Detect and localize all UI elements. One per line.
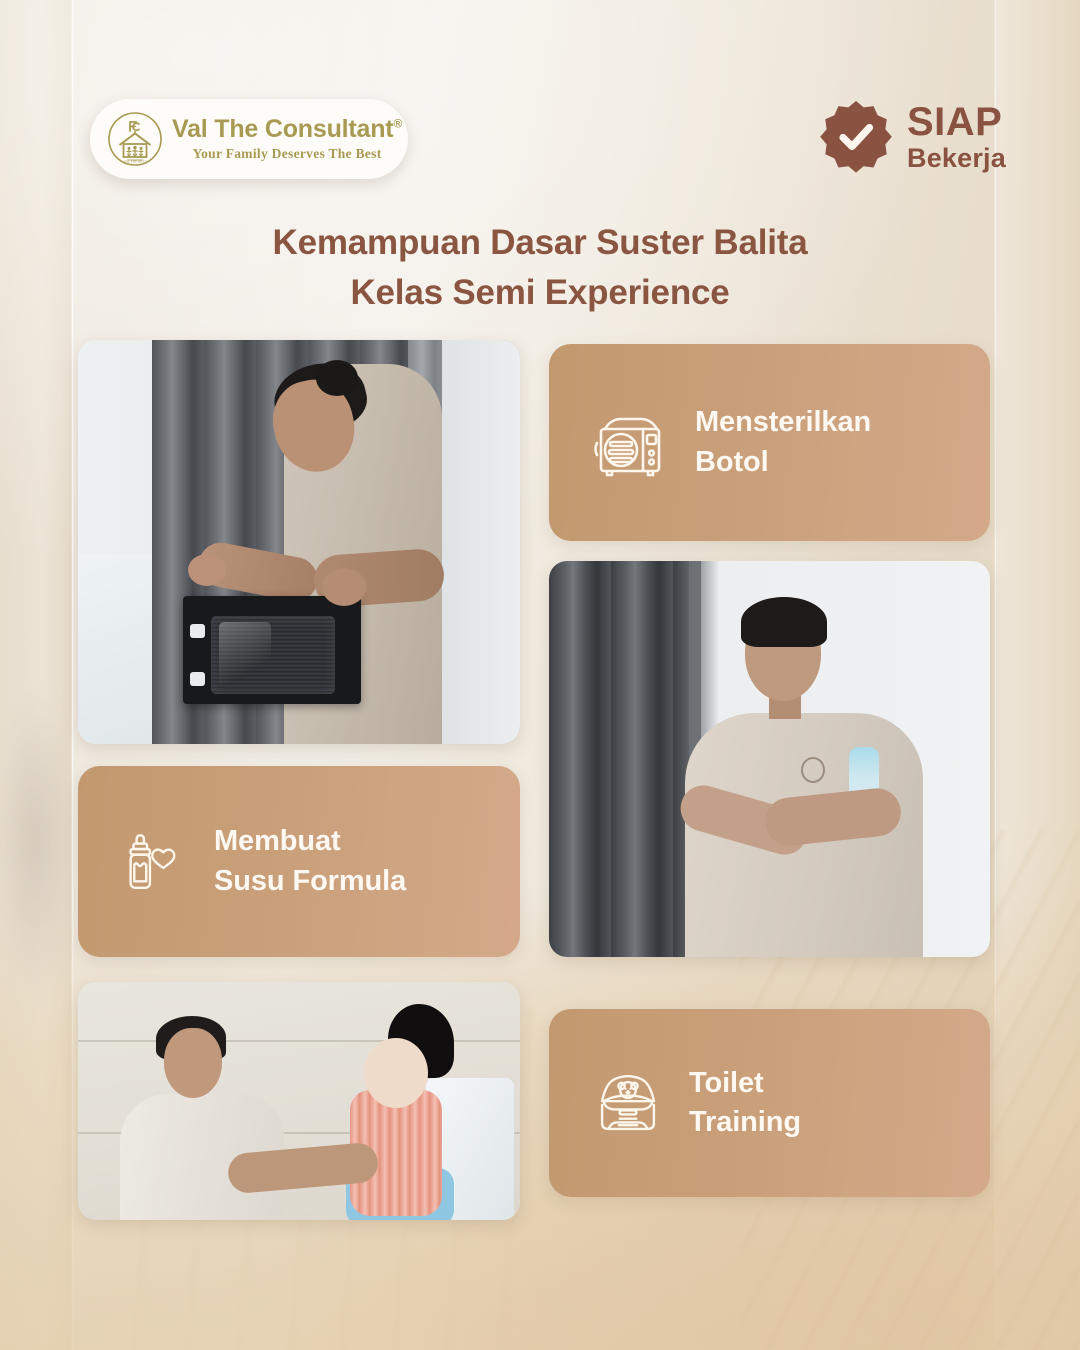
uniform-logo-embroidery xyxy=(801,757,825,783)
sterilize-photo xyxy=(78,340,520,744)
card-label-line1: Mensterilkan xyxy=(695,406,871,438)
poster-canvas: VAL THE BEST Val The Consultant® Your Fa… xyxy=(0,0,1080,1350)
caregiver-hair-bun xyxy=(316,360,358,396)
page-title: Kemampuan Dasar Suster Balita Kelas Semi… xyxy=(0,218,1080,317)
page-title-line2: Kelas Semi Experience xyxy=(0,268,1080,318)
card-toilet-training[interactable]: Toilet Training xyxy=(549,1009,990,1197)
card-label-line1: Toilet xyxy=(689,1067,764,1099)
card-label-line2: Botol xyxy=(695,443,871,482)
brand-name: Val The Consultant® xyxy=(172,117,402,142)
svg-text:VAL THE BEST: VAL THE BEST xyxy=(124,160,148,164)
training-doll-head xyxy=(364,1038,428,1108)
brand-logo-pill: VAL THE BEST Val The Consultant® Your Fa… xyxy=(90,99,408,179)
microwave-sterilizer xyxy=(183,596,361,704)
formula-photo-scene xyxy=(549,561,990,957)
bottle-sterilizer-icon xyxy=(591,407,671,479)
card-mensterilkan-botol[interactable]: Mensterilkan Botol xyxy=(549,344,990,541)
caregiver-hair xyxy=(741,597,827,647)
grey-curtain xyxy=(549,561,701,957)
microwave-door-glare xyxy=(219,622,271,688)
siap-line2: Bekerja xyxy=(907,145,1006,172)
verified-check-badge-icon xyxy=(818,99,894,175)
sterilize-photo-scene xyxy=(78,340,520,744)
wall-right xyxy=(442,340,520,744)
val-consultant-house-monogram-icon: VAL THE BEST xyxy=(106,110,164,168)
card-toilet-training-label: Toilet Training xyxy=(689,1064,801,1142)
potty-chair-bear-icon xyxy=(591,1066,665,1140)
formula-photo xyxy=(549,561,990,957)
caregiver-left-hand xyxy=(188,554,226,586)
toilet-photo-scene xyxy=(78,982,520,1220)
page-title-line1: Kemampuan Dasar Suster Balita xyxy=(273,223,808,262)
siap-line1: SIAP xyxy=(907,102,1006,142)
microwave-handle-top xyxy=(190,624,205,638)
card-label-line2: Training xyxy=(689,1103,801,1142)
baby-bottle-heart-icon xyxy=(120,827,190,897)
microwave-handle-bottom xyxy=(190,672,205,686)
card-membuat-susu-formula-label: Membuat Susu Formula xyxy=(214,822,406,900)
brand-tagline: Your Family Deserves The Best xyxy=(193,147,382,161)
brand-logo-text: Val The Consultant® Your Family Deserves… xyxy=(172,117,402,161)
siap-bekerja-text: SIAP Bekerja xyxy=(907,102,1006,172)
card-label-line2: Susu Formula xyxy=(214,862,406,901)
siap-bekerja-badge: SIAP Bekerja xyxy=(818,99,1006,175)
toilet-photo xyxy=(78,982,520,1220)
card-label-line1: Membuat xyxy=(214,825,341,857)
registered-mark: ® xyxy=(393,117,402,131)
caregiver-right-hand xyxy=(322,568,366,606)
card-membuat-susu-formula[interactable]: Membuat Susu Formula xyxy=(78,766,520,957)
caregiver-head xyxy=(164,1028,222,1098)
card-mensterilkan-botol-label: Mensterilkan Botol xyxy=(695,403,871,481)
